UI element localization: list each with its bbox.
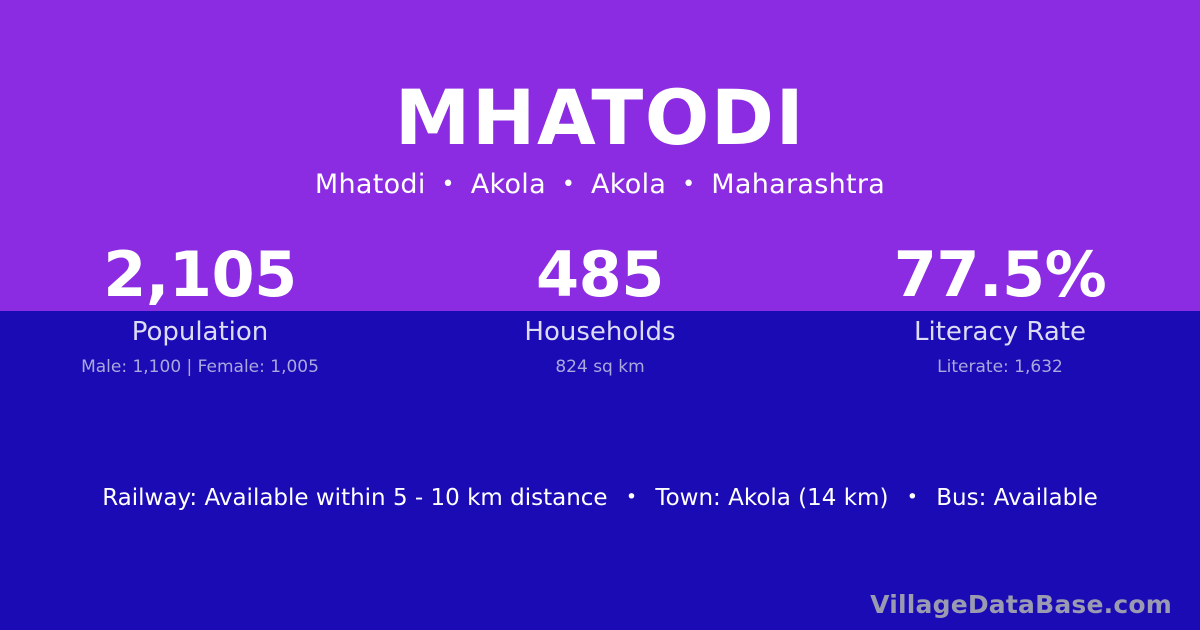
footer-brand-logo: VillageDataBase.com (870, 591, 1172, 619)
stat-value-population: 2,105 (0, 244, 400, 306)
stats-row: 2,105 Population Male: 1,100 | Female: 1… (0, 244, 1200, 376)
infra-separator-1: • (615, 486, 648, 508)
stat-value-households: 485 (400, 244, 800, 306)
stat-sub-literacy: Literate: 1,632 (800, 358, 1200, 377)
breadcrumb-state: Maharashtra (711, 169, 885, 200)
infra-town: Town: Akola (14 km) (655, 485, 888, 511)
breadcrumb-village: Mhatodi (315, 169, 426, 200)
stat-sub-population: Male: 1,100 | Female: 1,005 (0, 358, 400, 377)
stat-block-population: 2,105 Population Male: 1,100 | Female: 1… (0, 244, 400, 376)
stat-value-literacy: 77.5% (800, 244, 1200, 306)
stat-label-population: Population (0, 318, 400, 347)
village-info-card: MHATODI Mhatodi • Akola • Akola • Mahara… (0, 0, 1200, 630)
stat-block-literacy: 77.5% Literacy Rate Literate: 1,632 (800, 244, 1200, 376)
infrastructure-line: Railway: Available within 5 - 10 km dist… (0, 485, 1200, 513)
breadcrumb-separator-1: • (435, 172, 462, 197)
breadcrumb-separator-2: • (555, 172, 582, 197)
breadcrumb-subdistrict: Akola (471, 169, 546, 200)
breadcrumb-district: Akola (591, 169, 666, 200)
infra-railway: Railway: Available within 5 - 10 km dist… (102, 485, 607, 511)
breadcrumb: Mhatodi • Akola • Akola • Maharashtra (0, 170, 1200, 200)
breadcrumb-separator-3: • (675, 172, 702, 197)
page-title: MHATODI (0, 78, 1200, 158)
stat-sub-households: 824 sq km (400, 358, 800, 377)
stat-label-literacy: Literacy Rate (800, 318, 1200, 347)
infra-separator-2: • (896, 486, 929, 508)
infra-bus: Bus: Available (936, 485, 1098, 511)
stat-block-households: 485 Households 824 sq km (400, 244, 800, 376)
stat-label-households: Households (400, 318, 800, 347)
card-header: MHATODI Mhatodi • Akola • Akola • Mahara… (0, 0, 1200, 199)
